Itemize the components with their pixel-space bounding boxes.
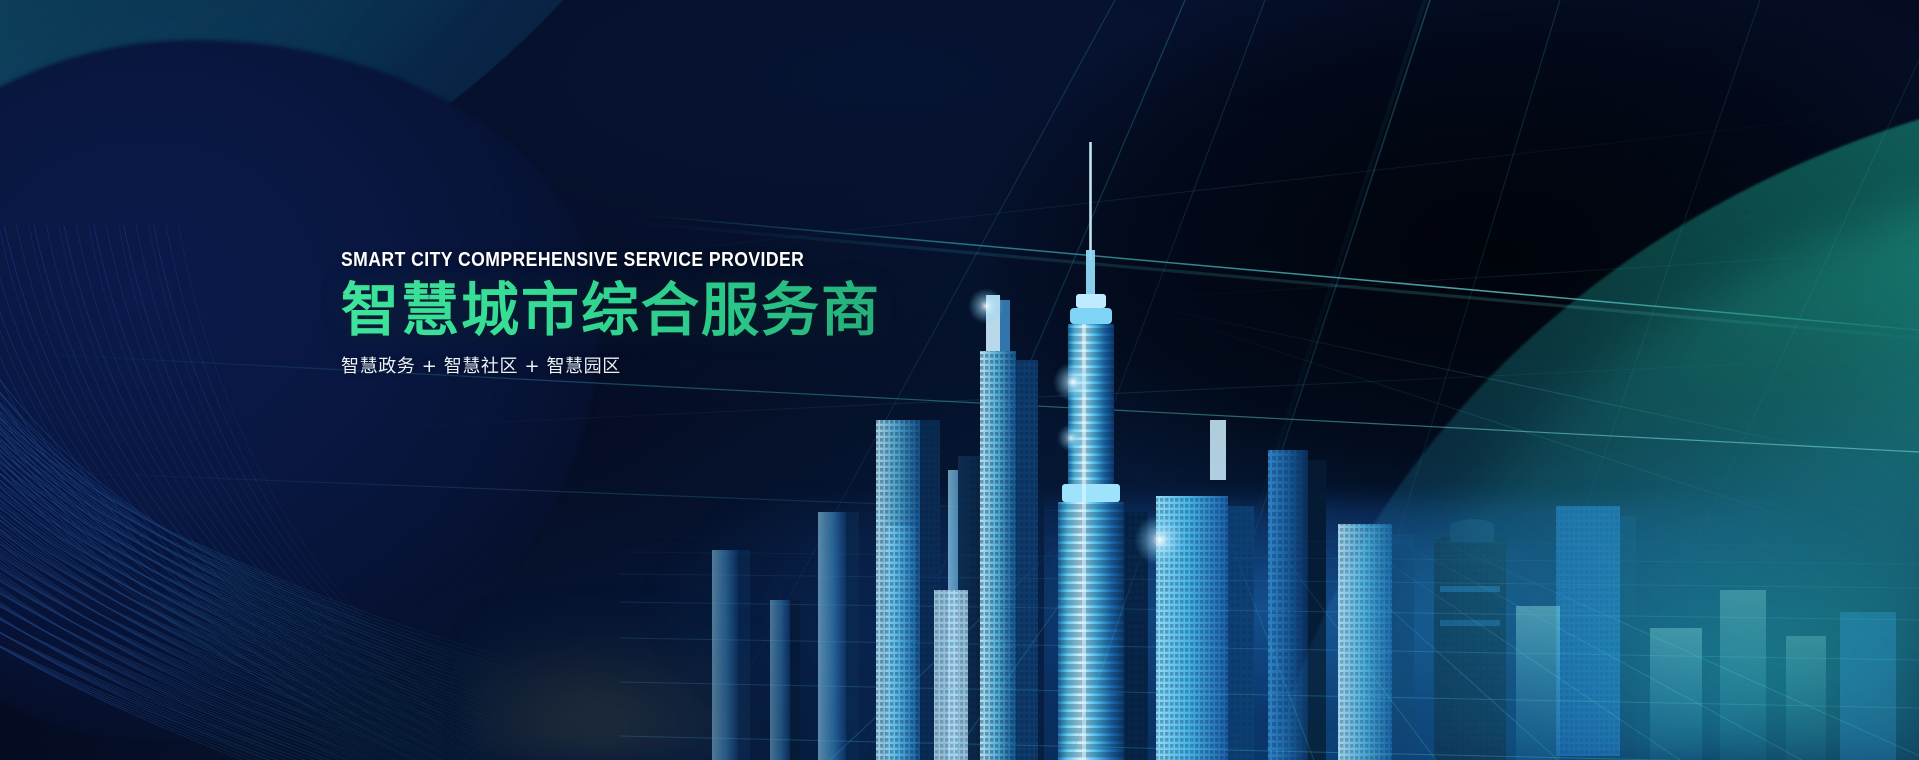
banner-headline: 智慧城市综合服务商 bbox=[341, 280, 1061, 341]
banner-copy-block: SMART CITY COMPREHENSIVE SERVICE PROVIDE… bbox=[341, 250, 1061, 379]
left-floor-tint bbox=[470, 560, 890, 760]
banner-eyebrow: SMART CITY COMPREHENSIVE SERVICE PROVIDE… bbox=[341, 250, 975, 270]
right-green-haze bbox=[1159, 340, 1919, 760]
hero-banner: SMART CITY COMPREHENSIVE SERVICE PROVIDE… bbox=[0, 0, 1919, 760]
banner-subline: 智慧政务 + 智慧社区 + 智慧园区 bbox=[341, 355, 1061, 378]
